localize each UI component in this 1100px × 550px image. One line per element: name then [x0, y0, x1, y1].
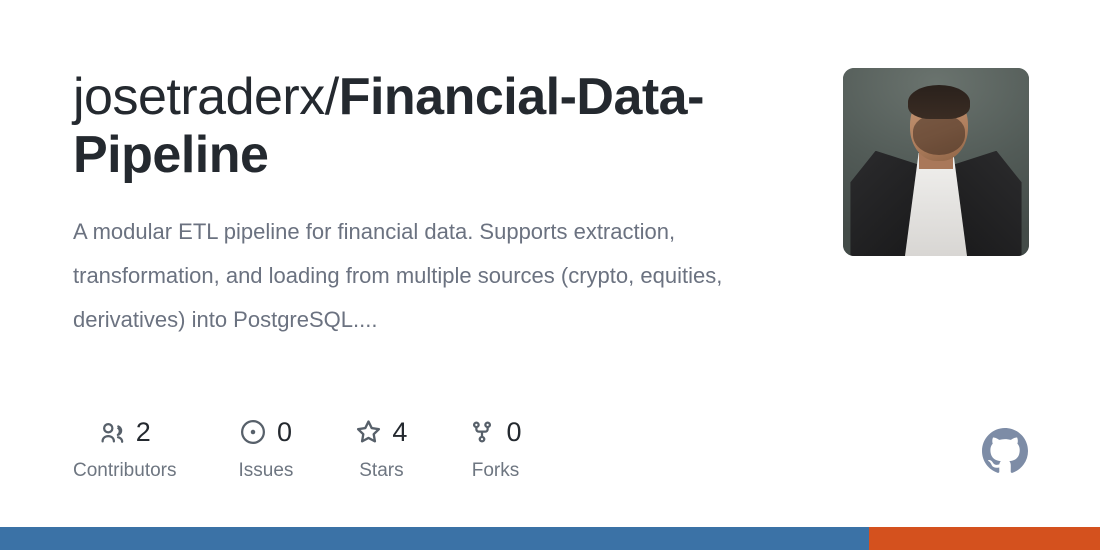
- stat-forks-top: 0: [469, 415, 521, 449]
- language-segment-secondary: [869, 527, 1100, 550]
- stat-stars-top: 4: [355, 415, 407, 449]
- issue-opened-icon: [240, 419, 266, 445]
- stat-contributors-top: 2: [99, 415, 151, 449]
- stat-contributors[interactable]: 2 Contributors: [73, 415, 177, 482]
- repo-stats: 2 Contributors 0 Issues: [73, 415, 521, 482]
- repo-forked-icon: [469, 419, 495, 445]
- stat-issues-label: Issues: [239, 460, 294, 482]
- avatar-hair: [908, 85, 970, 119]
- language-bar: [0, 527, 1100, 550]
- github-logo-icon: [982, 428, 1028, 474]
- avatar[interactable]: [843, 68, 1029, 256]
- stat-forks-label: Forks: [472, 460, 520, 482]
- repository-info: josetraderx/Financial-Data-Pipeline A mo…: [73, 68, 793, 341]
- stat-stars-label: Stars: [359, 460, 403, 482]
- stat-contributors-value: 2: [136, 419, 151, 446]
- stat-forks[interactable]: 0 Forks: [469, 415, 521, 482]
- language-segment-primary: [0, 527, 869, 550]
- stat-issues-value: 0: [277, 419, 292, 446]
- stat-issues-top: 0: [240, 415, 292, 449]
- stat-issues[interactable]: 0 Issues: [239, 415, 294, 482]
- star-icon: [355, 419, 381, 445]
- repository-card: josetraderx/Financial-Data-Pipeline A mo…: [0, 0, 1100, 550]
- repo-description: A modular ETL pipeline for financial dat…: [73, 210, 773, 341]
- avatar-beard: [913, 115, 965, 155]
- page-title[interactable]: josetraderx/Financial-Data-Pipeline: [73, 68, 793, 184]
- repo-separator: /: [325, 68, 339, 126]
- stat-contributors-label: Contributors: [73, 460, 177, 482]
- stat-stars-value: 4: [392, 419, 407, 446]
- stat-stars[interactable]: 4 Stars: [355, 415, 407, 482]
- people-icon: [99, 419, 125, 445]
- stat-forks-value: 0: [506, 419, 521, 446]
- repo-owner[interactable]: josetraderx: [73, 68, 325, 126]
